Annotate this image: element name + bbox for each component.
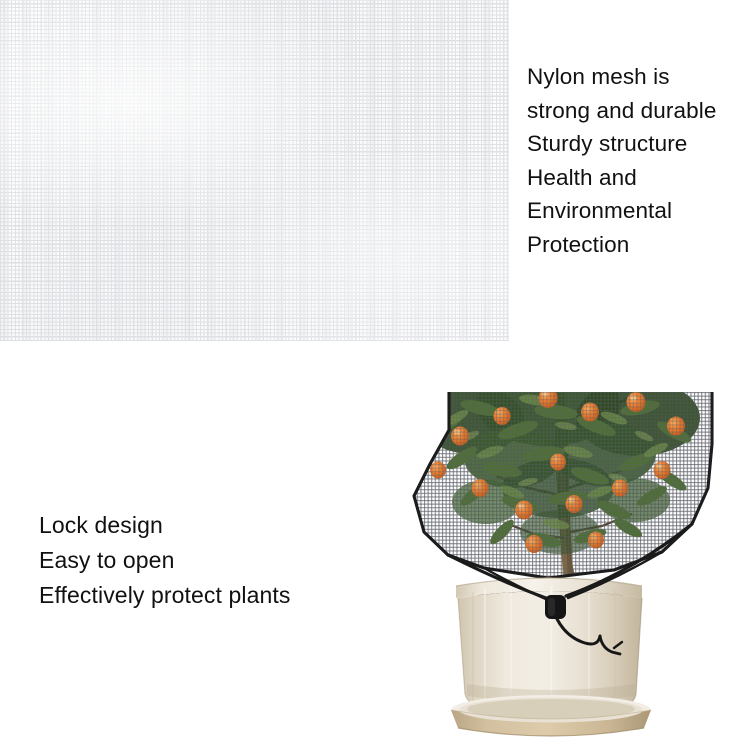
feature-line: Health and (527, 161, 716, 195)
feature-line: Easy to open (39, 543, 290, 578)
pot-saucer (451, 695, 651, 736)
nylon-mesh-fabric-swatch (0, 0, 509, 341)
mesh-sheen-overlay (0, 0, 509, 341)
feature-line: Environmental (527, 194, 716, 228)
feature-line: Nylon mesh is (527, 60, 716, 94)
feature-line: strong and durable (527, 94, 716, 128)
feature-line: Protection (527, 228, 716, 262)
citrus-tree (352, 392, 750, 602)
product-photo-potted-plant-with-mesh-cover (352, 392, 750, 750)
feature-text-bottom-left: Lock design Easy to open Effectively pro… (39, 508, 290, 613)
feature-line: Lock design (39, 508, 290, 543)
feature-text-top-right: Nylon mesh is strong and durable Sturdy … (527, 60, 716, 261)
feature-line: Sturdy structure (527, 127, 716, 161)
net-grid-over-plant (352, 392, 750, 602)
feature-line: Effectively protect plants (39, 578, 290, 613)
